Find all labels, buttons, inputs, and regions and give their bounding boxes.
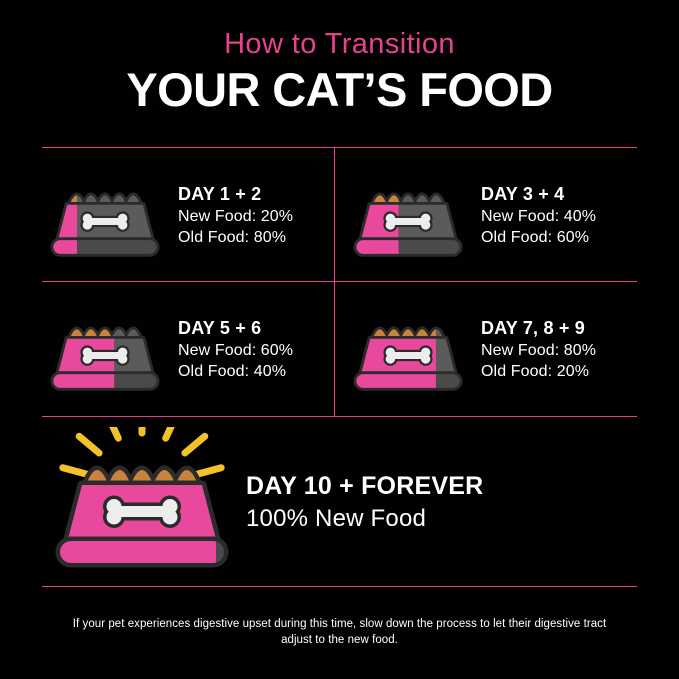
sparkle-ray-icon xyxy=(107,427,118,438)
step-day-label: DAY 5 + 6 xyxy=(178,318,334,339)
step-day-label: DAY 3 + 4 xyxy=(481,184,637,205)
step-old-food: Old Food: 60% xyxy=(481,228,637,248)
step-new-food: New Food: 20% xyxy=(178,207,334,227)
step-text-day-5-6: DAY 5 + 6 New Food: 60% Old Food: 40% xyxy=(178,316,334,383)
sparkle-ray-icon xyxy=(185,436,205,453)
infographic-canvas: How to Transition YOUR CAT’S FOOD DAY 1 … xyxy=(0,0,679,679)
step-card-day-5-6: DAY 5 + 6 New Food: 60% Old Food: 40% xyxy=(42,282,334,416)
step-text-day-7-8-9: DAY 7, 8 + 9 New Food: 80% Old Food: 20% xyxy=(481,316,637,383)
bowl-base xyxy=(53,240,156,254)
finale-day-label: DAY 10 + FOREVER xyxy=(246,472,637,500)
footer-note: If your pet experiences digestive upset … xyxy=(60,616,619,649)
step-day-label: DAY 1 + 2 xyxy=(178,184,334,205)
sparkle-ray-icon xyxy=(196,468,221,475)
header: How to Transition YOUR CAT’S FOOD xyxy=(0,30,679,115)
divider-lower xyxy=(42,416,637,417)
finale-card-day-10: DAY 10 + FOREVER 100% New Food xyxy=(42,426,637,578)
sparkle-ray-icon xyxy=(166,427,177,438)
bowl-icon-day-3-4 xyxy=(345,168,471,263)
step-day-label: DAY 7, 8 + 9 xyxy=(481,318,637,339)
step-new-food: New Food: 80% xyxy=(481,341,637,361)
bowl-icon-day-10-forever xyxy=(42,427,242,577)
step-new-food: New Food: 60% xyxy=(178,341,334,361)
food-bowl-icon xyxy=(42,168,168,263)
finale-sub-label: 100% New Food xyxy=(246,506,637,533)
bowl-base xyxy=(60,541,224,563)
step-old-food: Old Food: 80% xyxy=(178,228,334,248)
bowl-icon-day-5-6 xyxy=(42,302,168,397)
finale-text: DAY 10 + FOREVER 100% New Food xyxy=(242,472,637,533)
step-card-day-1-2: DAY 1 + 2 New Food: 20% Old Food: 80% xyxy=(42,148,334,282)
bowl-base xyxy=(356,374,459,388)
step-old-food: Old Food: 20% xyxy=(481,362,637,382)
sparkle-ray-icon xyxy=(79,436,99,453)
bowl-base xyxy=(356,240,459,254)
food-bowl-icon xyxy=(42,427,242,577)
transition-steps-grid: DAY 1 + 2 New Food: 20% Old Food: 80% DA… xyxy=(42,148,637,416)
step-text-day-3-4: DAY 3 + 4 New Food: 40% Old Food: 60% xyxy=(481,182,637,249)
step-text-day-1-2: DAY 1 + 2 New Food: 20% Old Food: 80% xyxy=(178,182,334,249)
step-old-food: Old Food: 40% xyxy=(178,362,334,382)
food-bowl-icon xyxy=(345,168,471,263)
step-new-food: New Food: 40% xyxy=(481,207,637,227)
food-bowl-icon xyxy=(345,302,471,397)
header-kicker: How to Transition xyxy=(0,30,679,59)
sparkle-ray-icon xyxy=(63,468,88,475)
page-title: YOUR CAT’S FOOD xyxy=(0,65,679,115)
divider-footer xyxy=(42,586,637,587)
step-card-day-3-4: DAY 3 + 4 New Food: 40% Old Food: 60% xyxy=(345,148,637,282)
food-bowl-icon xyxy=(42,302,168,397)
bowl-icon-day-7-8-9 xyxy=(345,302,471,397)
bowl-base xyxy=(53,374,156,388)
step-card-day-7-8-9: DAY 7, 8 + 9 New Food: 80% Old Food: 20% xyxy=(345,282,637,416)
bowl-icon-day-1-2 xyxy=(42,168,168,263)
